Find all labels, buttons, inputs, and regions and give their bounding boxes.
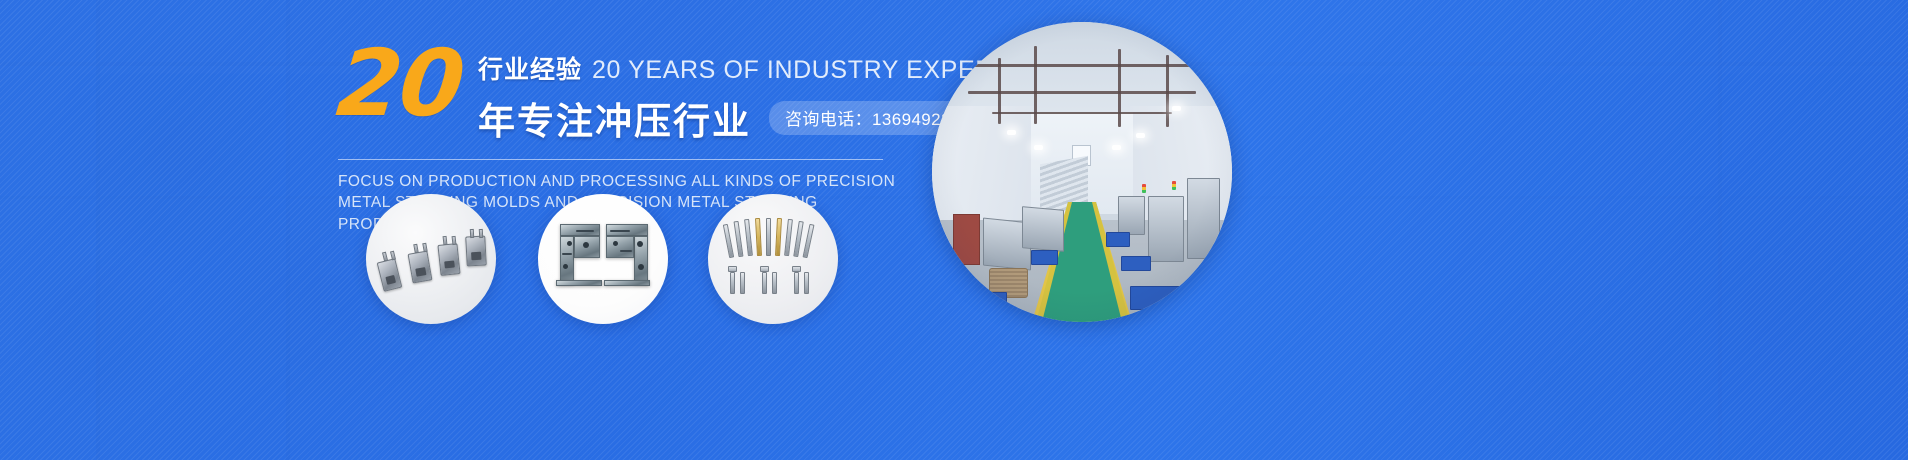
terminal-pin-icon: [766, 218, 771, 256]
terminal-pin-icon: [804, 272, 809, 294]
terminal-pin-icon: [730, 272, 735, 294]
terminal-pin-icon: [803, 224, 815, 258]
die-slot-icon: [620, 250, 632, 252]
terminal-pin-icon: [784, 219, 793, 256]
die-plate-icon: [606, 236, 634, 258]
product-circle-usb-connectors: [366, 194, 496, 324]
usb-connector-icon: [465, 235, 487, 266]
terminal-pin-icon: [794, 272, 799, 294]
die-hole-icon: [637, 241, 643, 247]
die-slot-icon: [562, 253, 572, 255]
die-slot-icon: [610, 230, 630, 232]
usb-connector-icon: [437, 243, 460, 276]
promo-banner: 20 行业经验 20 YEARS OF INDUSTRY EXPERIENCE …: [0, 0, 1908, 460]
terminal-pin-icon: [772, 272, 777, 294]
die-base-icon: [556, 280, 602, 286]
die-hole-icon: [638, 264, 644, 270]
die-base-icon: [604, 280, 650, 286]
usb-connector-tab-icon: [452, 236, 457, 245]
cn-tagline-small: 行业经验: [478, 50, 582, 86]
die-hole-icon: [613, 241, 618, 246]
years-number: 20: [334, 44, 466, 123]
terminal-pin-icon: [740, 272, 745, 294]
headline-divider: [338, 159, 883, 160]
usb-connector-tab-icon: [413, 244, 419, 254]
cn-tagline-big: 年专注冲压行业: [478, 91, 751, 145]
die-hole-icon: [567, 241, 572, 246]
die-hole-icon: [563, 264, 568, 269]
usb-connector-tab-icon: [390, 251, 396, 261]
product-circle-stamping-die: [538, 194, 668, 324]
product-circle-metal-terminals: [708, 194, 838, 324]
usb-connector-tab-icon: [470, 229, 474, 238]
factory-vignette: [932, 22, 1232, 322]
usb-connector-icon: [377, 258, 403, 292]
terminal-pin-icon: [734, 221, 744, 257]
terminal-pin-icon: [723, 224, 734, 258]
terminal-pin-icon: [775, 218, 782, 256]
usb-connector-tab-icon: [479, 229, 483, 238]
die-slot-icon: [576, 230, 594, 232]
terminal-pin-icon: [762, 272, 767, 294]
terminal-pin-icon: [793, 221, 804, 257]
usb-connector-tab-icon: [443, 236, 448, 245]
usb-connector-icon: [408, 250, 433, 283]
terminal-pin-icon: [744, 219, 753, 256]
usb-connector-tab-icon: [422, 243, 428, 253]
terminal-pin-icon: [755, 218, 762, 256]
die-hole-icon: [583, 242, 589, 248]
usb-connector-tab-icon: [382, 252, 388, 262]
headline-row: 20 行业经验 20 YEARS OF INDUSTRY EXPERIENCE …: [338, 44, 898, 145]
factory-workshop-photo: [932, 22, 1232, 322]
